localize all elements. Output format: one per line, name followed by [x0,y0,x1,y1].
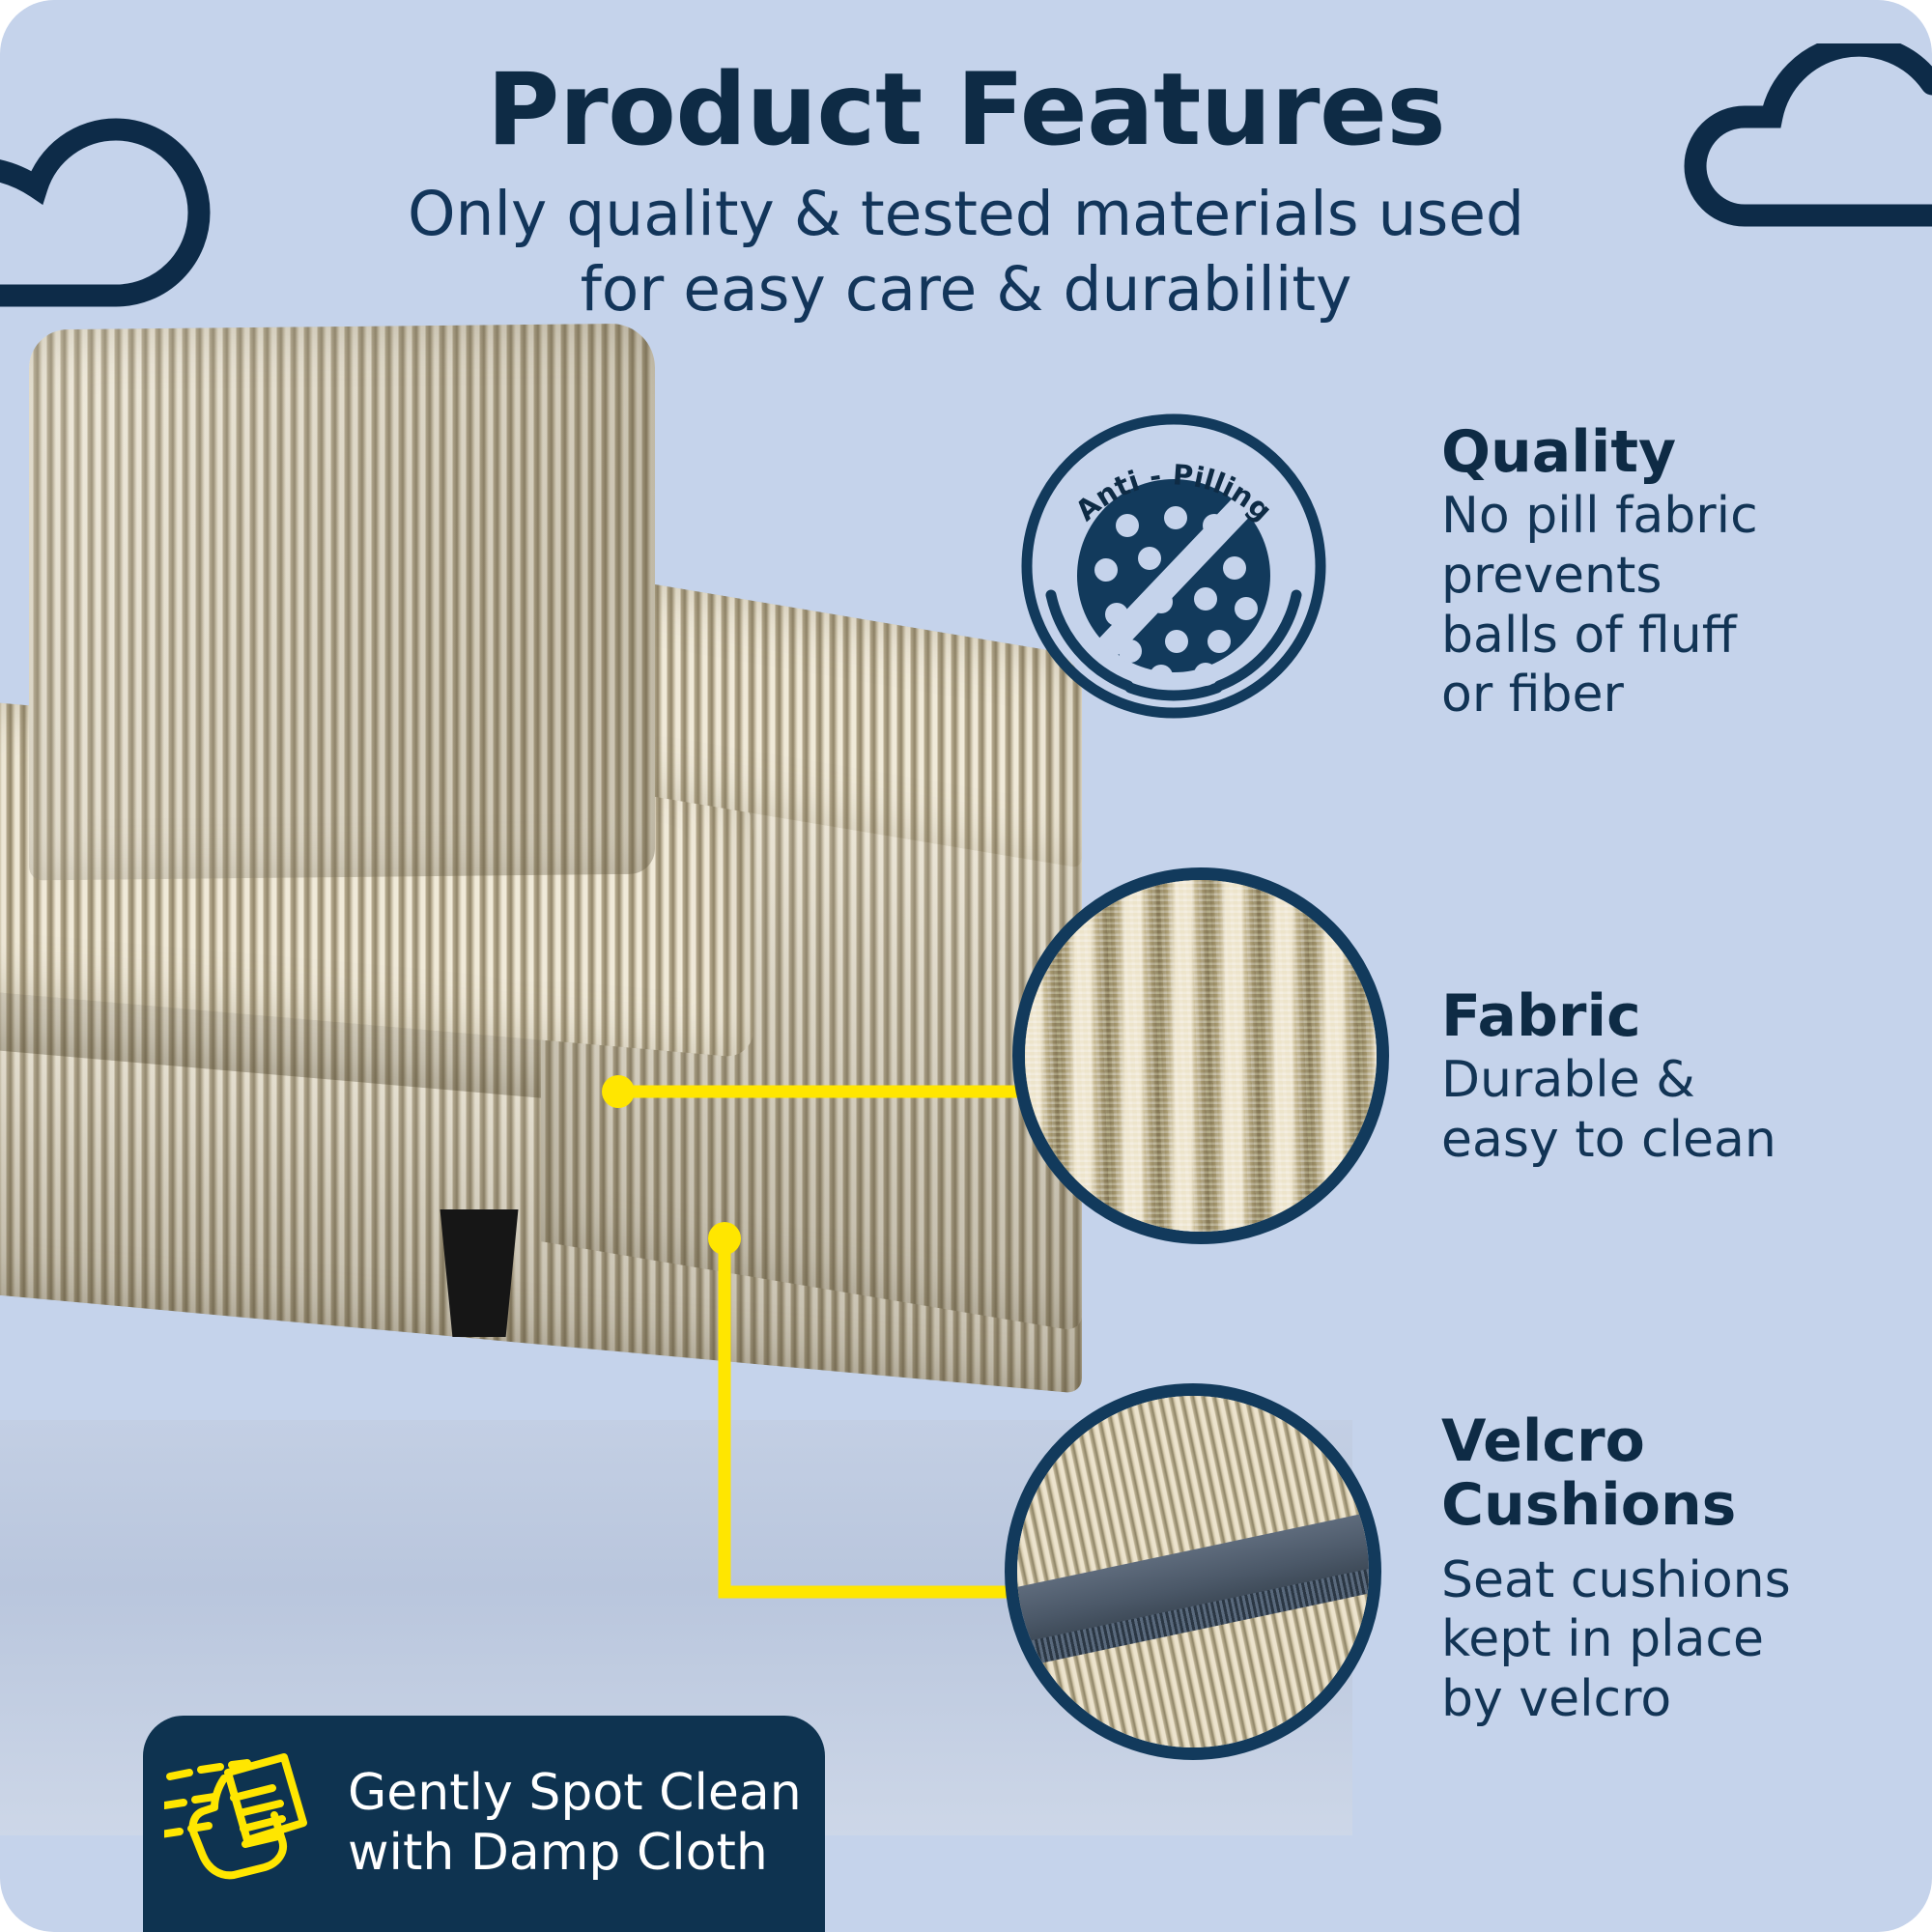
page-title: Product Features [0,58,1932,163]
badge-arc-bottom [1130,688,1217,696]
feature-quality-body-line-3: balls of fluff [1441,607,1886,667]
feature-quality-heading: Quality [1441,423,1886,483]
sofa-back-cushion [29,324,655,881]
feature-velcro-body-line-3: by velcro [1441,1670,1905,1730]
fabric-macro-texture [1025,880,1377,1232]
feature-fabric-body-line-2: easy to clean [1441,1111,1895,1171]
feature-quality: Quality No pill fabric prevents balls of… [1441,423,1886,725]
subtitle-line-2: for easy care & durability [0,252,1932,327]
banner-text-line-1: Gently Spot Clean [348,1764,802,1824]
feature-velcro-body-line-2: kept in place [1441,1610,1905,1670]
feature-velcro: Velcro Cushions Seat cushions kept in pl… [1441,1412,1905,1730]
feature-quality-body-line-1: No pill fabric [1441,487,1886,547]
velcro-macro-scene [1017,1396,1369,1747]
care-instruction-banner: Gently Spot Clean with Damp Cloth [143,1716,825,1932]
infographic-card: Product Features Only quality & tested m… [0,0,1932,1932]
velcro-detail-circle [1005,1383,1381,1760]
feature-quality-body-line-4: or fiber [1441,666,1886,725]
feature-velcro-body-line-1: Seat cushions [1441,1551,1905,1611]
banner-text-line-2: with Damp Cloth [348,1824,802,1884]
header: Product Features Only quality & tested m… [0,58,1932,327]
feature-fabric: Fabric Durable & easy to clean [1441,987,1895,1171]
subtitle: Only quality & tested materials used for… [0,177,1932,327]
fabric-detail-circle [1012,867,1389,1244]
hand-wiping-cloth-icon [164,1751,327,1896]
anti-pilling-badge: Anti - Pilling [1014,404,1333,723]
feature-fabric-heading: Fabric [1441,987,1895,1047]
feature-velcro-heading-line-1: Velcro [1441,1412,1905,1472]
feature-quality-body-line-2: prevents [1441,547,1886,607]
feature-velcro-heading-line-2: Cushions [1441,1476,1905,1536]
subtitle-line-1: Only quality & tested materials used [0,177,1932,252]
banner-text: Gently Spot Clean with Damp Cloth [348,1764,802,1884]
feature-fabric-body-line-1: Durable & [1441,1051,1895,1111]
